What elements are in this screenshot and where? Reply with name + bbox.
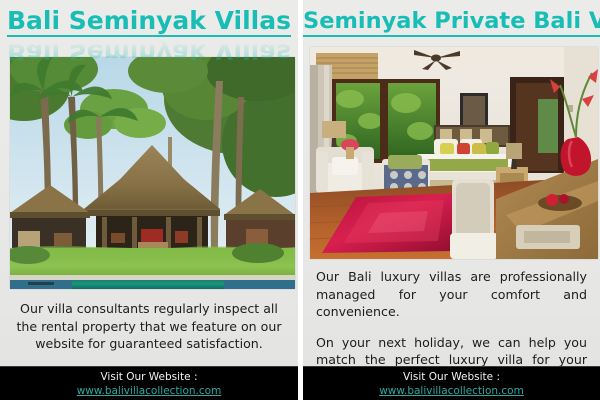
left-panel-footer: Visit Our Website : www.balivillacollect… [0, 366, 298, 400]
right-footer-label: Visit Our Website : [303, 371, 600, 384]
bedroom-illustration [310, 47, 598, 259]
left-footer-label: Visit Our Website : [0, 371, 298, 384]
left-panel: Bali Seminyak Villas Bali Seminyak Villa… [0, 0, 298, 400]
left-panel-body-copy: Our villa consultants regularly inspect … [0, 300, 298, 353]
left-panel-paragraph-1: Our villa consultants regularly inspect … [12, 300, 286, 353]
tropical-villa-with-pool-photo [10, 57, 295, 289]
left-panel-title: Bali Seminyak Villas [7, 8, 291, 37]
right-panel: Seminyak Private Bali Villas [303, 0, 600, 400]
left-panel-title-block: Bali Seminyak Villas [0, 8, 298, 37]
right-panel-footer: Visit Our Website : www.balivillacollect… [303, 366, 600, 400]
right-footer-website-link[interactable]: www.balivillacollection.com [303, 384, 600, 398]
right-panel-paragraph-1: Our Bali luxury villas are professionall… [316, 268, 587, 321]
right-panel-title-block: Seminyak Private Bali Villas [303, 10, 600, 37]
right-panel-title: Seminyak Private Bali Villas [303, 10, 600, 37]
luxury-bedroom-interior-photo [310, 47, 598, 259]
left-footer-website-link[interactable]: www.balivillacollection.com [0, 384, 298, 398]
poster-root: Bali Seminyak Villas Bali Seminyak Villa… [0, 0, 600, 400]
villa-illustration [10, 57, 295, 289]
